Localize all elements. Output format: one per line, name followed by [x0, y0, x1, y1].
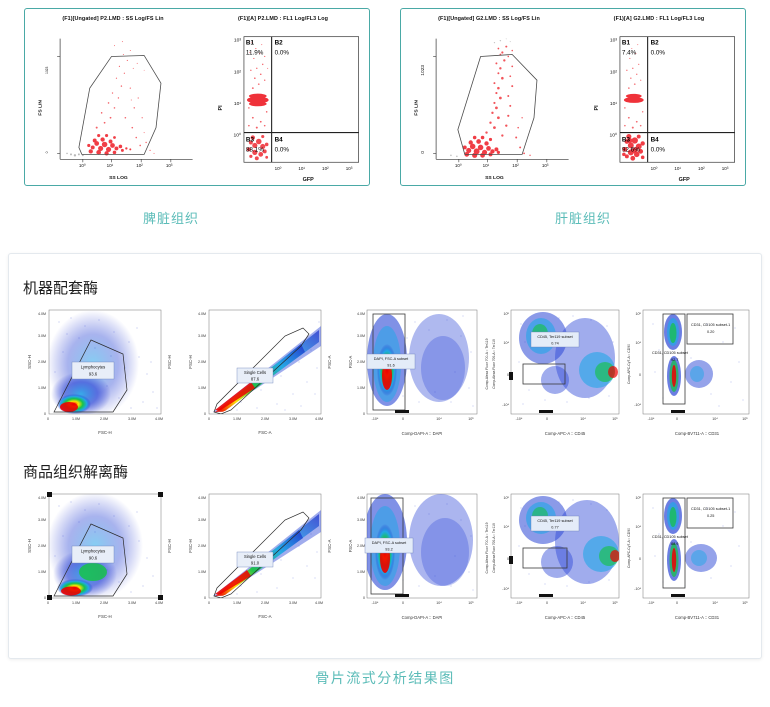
top-flow-cytometry-section: (F1)[Ungated] P2.LMD : SS Log/FS Lin 102…: [0, 0, 770, 245]
plot-dapi-subset-r1[interactable]: DAPI, FSC-A subset 91.6 -10⁴0 10⁴10⁵ 01.…: [343, 302, 493, 442]
svg-text:10⁴: 10⁴: [635, 341, 641, 345]
svg-text:1.0M: 1.0M: [198, 570, 206, 574]
plot-cd31-cd105-r1[interactable]: CD31, CD105 subset-1 0.20 CD31, CD105 su…: [627, 302, 757, 442]
gate-value: 0.77: [551, 526, 558, 530]
svg-text:3.0M: 3.0M: [128, 601, 136, 605]
plot-single-cells-r2[interactable]: Single Cells 91.0 01.0M 2.0M3.0M 4.0M 01…: [181, 486, 341, 626]
svg-text:10⁴: 10⁴: [712, 417, 718, 421]
svg-text:10⁵: 10⁵: [636, 312, 642, 316]
svg-text:10⁴: 10⁴: [635, 525, 641, 529]
fcs-card-liver: (F1)[Ungated] G2.LMD : SS Log/FS Lin 102…: [400, 8, 746, 186]
svg-text:1.0M: 1.0M: [233, 601, 241, 605]
svg-text:SS LOG: SS LOG: [109, 175, 128, 181]
svg-text:10⁴: 10⁴: [503, 341, 509, 345]
svg-text:-10⁴: -10⁴: [516, 601, 523, 605]
svg-text:0: 0: [204, 596, 206, 600]
density-plot-cd31-cd90: CD31, CD105 subset-1 0.25 CD31, CD105 su…: [627, 486, 757, 626]
svg-text:10¹: 10¹: [674, 166, 681, 171]
svg-text:PI: PI: [218, 105, 224, 111]
svg-text:2.0M: 2.0M: [261, 417, 269, 421]
svg-text:1.0M: 1.0M: [357, 386, 365, 390]
gate-value: 93.6: [89, 372, 98, 377]
svg-text:3.0M: 3.0M: [357, 334, 365, 338]
gate-value: 0.74: [551, 342, 558, 346]
gate-value: 93.2: [385, 548, 392, 552]
svg-text:FSC-H: FSC-H: [98, 614, 111, 619]
panel-spleen-gated: (F1)[A] P2.LMD : FL1 Log/FL3 Log PI 10³ …: [197, 9, 369, 185]
svg-text:GFP: GFP: [679, 177, 691, 183]
svg-text:10⁰: 10⁰: [79, 163, 86, 168]
svg-text:0: 0: [546, 601, 548, 605]
svg-text:Comp-Alexa Fluor 700-A :: Ter1: Comp-Alexa Fluor 700-A :: Ter119: [492, 523, 496, 573]
svg-text:-10⁴: -10⁴: [372, 417, 379, 421]
gate-value: 0.20: [707, 330, 714, 334]
quadrant-b4-value: 0.0%: [275, 146, 290, 153]
svg-text:1023: 1023: [420, 65, 426, 76]
svg-text:10²: 10²: [322, 166, 329, 171]
svg-text:0: 0: [47, 417, 49, 421]
plot-cd45-ter119-r2[interactable]: CD45, Ter119 subset 0.77 -10⁴0 10⁴10⁵ 10…: [485, 486, 635, 626]
svg-text:0: 0: [676, 601, 678, 605]
scatter-plot-ss-fs: 1023 0 FS LIN SS LOG 10⁰ 10¹ 10² 10³: [27, 9, 199, 185]
plot-row-machine-enzyme: Lymphocytes 93.6 01.0M 2.0M3.0M 4.0M 01.…: [19, 302, 755, 442]
svg-text:10³: 10³: [610, 38, 617, 44]
quadrant-b1-value: 11.9%: [246, 49, 264, 56]
svg-text:4.0M: 4.0M: [155, 601, 163, 605]
svg-text:4.0M: 4.0M: [315, 601, 323, 605]
gate-value: 87.6: [251, 377, 260, 382]
svg-text:10²: 10²: [698, 166, 705, 171]
svg-text:Comp-BV711-A :: CD31: Comp-BV711-A :: CD31: [675, 615, 720, 620]
svg-text:0: 0: [639, 373, 641, 377]
svg-text:10⁵: 10⁵: [636, 496, 642, 500]
svg-text:7.4%: 7.4%: [622, 49, 637, 56]
svg-text:10⁵: 10⁵: [612, 601, 618, 605]
svg-text:FSC-A: FSC-A: [327, 539, 332, 552]
svg-text:-10⁴: -10⁴: [502, 587, 509, 591]
svg-text:0: 0: [208, 601, 210, 605]
svg-text:10⁰: 10⁰: [275, 166, 282, 171]
svg-text:4.0M: 4.0M: [198, 496, 206, 500]
svg-text:10⁵: 10⁵: [742, 417, 748, 421]
svg-text:0: 0: [47, 601, 49, 605]
scatter-plot-gfp-pi: PI 10³ 10² 10¹ 10⁰ 10⁰ 10¹ 10² 10³ GFP: [573, 9, 745, 185]
svg-text:10⁵: 10⁵: [468, 417, 474, 421]
gate-label: Single Cells: [244, 370, 266, 375]
plot-single-cells-r1[interactable]: Single Cells 87.6 01.0M 2.0M3.0M 4.0M 01…: [181, 302, 341, 442]
svg-text:10²: 10²: [610, 69, 617, 75]
svg-text:10⁰: 10⁰: [233, 133, 240, 139]
svg-text:1.0M: 1.0M: [72, 417, 80, 421]
svg-text:4.0M: 4.0M: [357, 496, 365, 500]
gate-label: Single Cells: [244, 554, 266, 559]
svg-text:FSC-H: FSC-H: [188, 539, 193, 552]
svg-text:10⁵: 10⁵: [742, 601, 748, 605]
svg-text:10³: 10³: [234, 38, 241, 44]
svg-text:10²: 10²: [512, 163, 519, 168]
panel-liver-gated: (F1)[A] G2.LMD : FL1 Log/FL3 Log PI 10³ …: [573, 9, 745, 185]
svg-text:Comp-Alexa Fluor 700-A :: Ter1: Comp-Alexa Fluor 700-A :: Ter119: [492, 339, 496, 389]
gate-value: 91.6: [387, 364, 394, 368]
gate-value: 91.0: [251, 561, 260, 566]
svg-text:4.0M: 4.0M: [315, 417, 323, 421]
density-plot-cd31-cd90: CD31, CD105 subset-1 0.20 CD31, CD105 su…: [627, 302, 757, 442]
svg-text:3.0M: 3.0M: [198, 334, 206, 338]
svg-text:0: 0: [639, 557, 641, 561]
svg-text:10⁴: 10⁴: [712, 601, 718, 605]
gate-label: CD31, CD105 subset: [652, 535, 689, 539]
svg-text:Comp-BV711-A :: CD31: Comp-BV711-A :: CD31: [675, 431, 720, 436]
svg-text:0: 0: [363, 412, 365, 416]
gate-label: DAPI, FSC-A subset: [372, 541, 407, 545]
svg-text:B4: B4: [651, 136, 660, 143]
gate-label: CD45, Ter119 subset: [537, 335, 573, 339]
svg-text:Comp-DAPI-A :: DAPI: Comp-DAPI-A :: DAPI: [402, 615, 443, 620]
fcs-card-spleen: (F1)[Ungated] P2.LMD : SS Log/FS Lin 102…: [24, 8, 370, 186]
svg-text:2.0M: 2.0M: [357, 360, 365, 364]
svg-text:10⁴: 10⁴: [436, 417, 442, 421]
plot-lymphocytes-r1[interactable]: Lymphocytes 93.6 01.0M 2.0M3.0M 4.0M 01.…: [19, 302, 179, 442]
quadrant-b1-name: B1: [246, 40, 255, 47]
quadrant-b2-name: B2: [275, 40, 284, 47]
svg-text:0: 0: [507, 557, 509, 561]
svg-text:0: 0: [44, 596, 46, 600]
svg-text:3.0M: 3.0M: [38, 518, 46, 522]
svg-text:2.0M: 2.0M: [38, 360, 46, 364]
plot-cd31-cd105-r2[interactable]: CD31, CD105 subset-1 0.25 CD31, CD105 su…: [627, 486, 757, 626]
panel-liver-ungated: (F1)[Ungated] G2.LMD : SS Log/FS Lin 102…: [403, 9, 575, 185]
svg-text:SSC-H: SSC-H: [27, 539, 32, 553]
group-heading-machine-enzyme: 机器配套酶: [23, 277, 98, 298]
svg-text:1023: 1023: [45, 66, 49, 74]
plot-lymphocytes-r2[interactable]: Lymphocytes 90.6 01.0M 2.0M3.0M 4.0M 01.…: [19, 486, 179, 626]
svg-text:10²: 10²: [234, 69, 241, 75]
svg-text:B2: B2: [651, 40, 660, 47]
svg-text:0: 0: [546, 417, 548, 421]
svg-text:1.0M: 1.0M: [72, 601, 80, 605]
svg-text:-10⁴: -10⁴: [634, 403, 641, 407]
quadrant-b2-value: 0.0%: [275, 49, 290, 56]
svg-text:10³: 10³: [166, 163, 173, 168]
svg-text:FSC-H: FSC-H: [98, 430, 111, 435]
svg-text:10⁰: 10⁰: [455, 163, 462, 168]
svg-text:10⁴: 10⁴: [580, 417, 586, 421]
svg-text:0.0%: 0.0%: [651, 146, 666, 153]
svg-text:FSC-A: FSC-A: [348, 540, 353, 553]
svg-text:4.0M: 4.0M: [38, 496, 46, 500]
svg-text:FSC-H: FSC-H: [188, 355, 193, 368]
gate-label: Lymphocytes: [81, 365, 106, 370]
svg-text:GFP: GFP: [303, 177, 315, 183]
svg-text:2.0M: 2.0M: [38, 544, 46, 548]
quadrant-b3-name: B3: [246, 136, 255, 143]
svg-text:FS LIN: FS LIN: [37, 100, 43, 116]
svg-text:4.0M: 4.0M: [155, 417, 163, 421]
svg-text:10⁴: 10⁴: [580, 601, 586, 605]
svg-text:2.0M: 2.0M: [261, 601, 269, 605]
svg-text:10¹: 10¹: [298, 166, 305, 171]
svg-text:3.0M: 3.0M: [198, 518, 206, 522]
svg-text:3.0M: 3.0M: [38, 334, 46, 338]
gate-value: 92.7: [671, 358, 678, 362]
svg-text:2.0M: 2.0M: [100, 417, 108, 421]
svg-text:10¹: 10¹: [107, 163, 114, 168]
group-heading-commercial-enzyme: 商品组织解离酶: [23, 461, 128, 482]
tissue-label-spleen: 脾脏组织: [143, 208, 199, 227]
svg-text:FS LIN: FS LIN: [413, 100, 419, 116]
scatter-plot-gfp-pi: PI 10³ 10² 10¹ 10⁰ 10⁰ 10¹ 10² 10³ GFP: [197, 9, 369, 185]
density-plot-dapi-fsca: DAPI, FSC-A subset 93.2 -10⁴0 10⁴10⁵ 01.…: [343, 486, 493, 626]
svg-text:0: 0: [363, 596, 365, 600]
svg-text:10⁵: 10⁵: [504, 312, 510, 316]
svg-text:0: 0: [402, 417, 404, 421]
svg-text:10⁵: 10⁵: [468, 601, 474, 605]
svg-text:4.0M: 4.0M: [198, 312, 206, 316]
svg-text:Comp-APC-A :: CD45: Comp-APC-A :: CD45: [545, 431, 586, 436]
svg-text:FSC-A: FSC-A: [348, 356, 353, 369]
svg-text:0.0%: 0.0%: [651, 49, 666, 56]
svg-text:Comp-DAPI-A :: DAPI: Comp-DAPI-A :: DAPI: [402, 431, 443, 436]
svg-text:0: 0: [44, 412, 46, 416]
gate-label: CD45, Ter119 subset: [537, 519, 573, 523]
density-plot-fsch-fsca: Single Cells 87.6 01.0M 2.0M3.0M 4.0M 01…: [181, 302, 341, 442]
density-plot-dapi-fsca: DAPI, FSC-A subset 91.6 -10⁴0 10⁴10⁵ 01.…: [343, 302, 493, 442]
svg-text:10³: 10³: [722, 166, 729, 171]
svg-text:10⁴: 10⁴: [436, 601, 442, 605]
gate-label: CD31, CD105 subset-1: [691, 323, 730, 327]
plot-dapi-subset-r2[interactable]: DAPI, FSC-A subset 93.2 -10⁴0 10⁴10⁵ 01.…: [343, 486, 493, 626]
svg-text:1.0M: 1.0M: [233, 417, 241, 421]
gate-label: CD31, CD105 subset: [652, 351, 689, 355]
svg-text:10¹: 10¹: [234, 101, 241, 107]
svg-text:FSC-H: FSC-H: [167, 355, 172, 368]
svg-text:4.0M: 4.0M: [38, 312, 46, 316]
svg-text:10¹: 10¹: [483, 163, 490, 168]
quadrant-b4-name: B4: [275, 136, 284, 143]
gate-value: 90.6: [89, 556, 98, 561]
svg-text:-10⁴: -10⁴: [634, 587, 641, 591]
svg-text:SSC-H: SSC-H: [27, 355, 32, 369]
figure-caption: 骨片流式分析结果图: [0, 668, 770, 688]
density-plot-ssc-fsc: Lymphocytes 93.6 01.0M 2.0M3.0M 4.0M 01.…: [19, 302, 179, 442]
svg-text:10⁰: 10⁰: [609, 133, 616, 139]
svg-text:10¹: 10¹: [610, 101, 617, 107]
svg-text:-10⁴: -10⁴: [648, 601, 655, 605]
svg-text:0: 0: [45, 151, 49, 153]
density-plot-cd45-ter119: CD45, Ter119 subset 0.77 -10⁴0 10⁴10⁵ 10…: [485, 486, 635, 626]
svg-text:0: 0: [507, 373, 509, 377]
svg-text:2.0M: 2.0M: [198, 360, 206, 364]
svg-text:Comp-APC-A :: CD45: Comp-APC-A :: CD45: [545, 615, 586, 620]
gate-label: CD31, CD105 subset-1: [691, 507, 730, 511]
svg-text:92.6%: 92.6%: [622, 146, 640, 153]
plot-row-commercial-enzyme: Lymphocytes 90.6 01.0M 2.0M3.0M 4.0M 01.…: [19, 486, 755, 626]
svg-text:FSC-H: FSC-H: [167, 539, 172, 552]
svg-text:3.0M: 3.0M: [289, 417, 297, 421]
svg-text:10³: 10³: [346, 166, 353, 171]
scatter-plot-ss-fs: 1023 0 FS LIN SS LOG 10⁰ 10¹ 10² 10³: [403, 9, 575, 185]
svg-text:0: 0: [402, 601, 404, 605]
svg-text:0: 0: [208, 417, 210, 421]
svg-text:3.0M: 3.0M: [128, 417, 136, 421]
density-plot-ssc-fsc: Lymphocytes 90.6 01.0M 2.0M3.0M 4.0M 01.…: [19, 486, 179, 626]
plot-cd45-ter119-r1[interactable]: CD45, Ter119 subset 0.74 -10⁴0 10⁴10⁵ 10…: [485, 302, 635, 442]
svg-text:2.0M: 2.0M: [198, 544, 206, 548]
svg-text:FSC-A: FSC-A: [258, 430, 271, 435]
svg-text:10⁵: 10⁵: [504, 496, 510, 500]
svg-text:10⁴: 10⁴: [503, 525, 509, 529]
svg-text:0: 0: [204, 412, 206, 416]
svg-text:2.0M: 2.0M: [100, 601, 108, 605]
svg-text:10⁰: 10⁰: [651, 166, 658, 171]
svg-text:1.0M: 1.0M: [357, 570, 365, 574]
svg-text:FSC-A: FSC-A: [258, 614, 271, 619]
svg-text:SS LOG: SS LOG: [485, 175, 504, 181]
svg-text:B3: B3: [622, 136, 631, 143]
svg-text:PI: PI: [594, 105, 600, 111]
svg-text:0: 0: [420, 151, 426, 154]
panel-spleen-ungated: (F1)[Ungated] P2.LMD : SS Log/FS Lin 102…: [27, 9, 199, 185]
svg-text:B1: B1: [622, 40, 631, 47]
svg-text:3.0M: 3.0M: [289, 601, 297, 605]
gate-label: Lymphocytes: [81, 549, 106, 554]
svg-text:10⁵: 10⁵: [612, 417, 618, 421]
svg-text:-10⁴: -10⁴: [502, 403, 509, 407]
svg-text:-10⁴: -10⁴: [648, 417, 655, 421]
svg-text:10²: 10²: [136, 163, 143, 168]
svg-text:0: 0: [676, 417, 678, 421]
svg-text:4.0M: 4.0M: [357, 312, 365, 316]
gate-value: 0.25: [707, 514, 714, 518]
bone-chip-analysis-panel: 机器配套酶 商品组织解离酶: [8, 253, 762, 659]
svg-text:10³: 10³: [542, 163, 549, 168]
svg-text:FSC-A: FSC-A: [327, 355, 332, 368]
svg-text:1.0M: 1.0M: [38, 570, 46, 574]
tissue-label-liver: 肝脏组织: [555, 208, 611, 227]
density-plot-fsch-fsca: Single Cells 91.0 01.0M 2.0M3.0M 4.0M 01…: [181, 486, 341, 626]
svg-text:2.0M: 2.0M: [357, 544, 365, 548]
density-plot-cd45-ter119: CD45, Ter119 subset 0.74 -10⁴0 10⁴10⁵ 10…: [485, 302, 635, 442]
svg-text:-10⁴: -10⁴: [516, 417, 523, 421]
gate-value: 88.9: [671, 542, 678, 546]
svg-text:1.0M: 1.0M: [38, 386, 46, 390]
svg-text:-10⁴: -10⁴: [372, 601, 379, 605]
gate-label: DAPI, FSC-A subset: [374, 357, 409, 361]
svg-text:3.0M: 3.0M: [357, 518, 365, 522]
svg-text:1.0M: 1.0M: [198, 386, 206, 390]
quadrant-b3-value: 88.1%: [246, 146, 264, 153]
